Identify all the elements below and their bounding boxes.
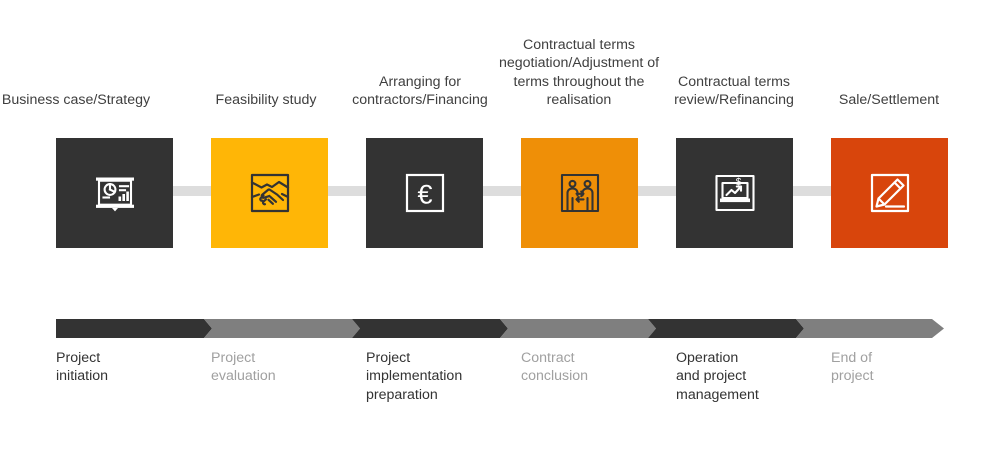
timeline-label-3: Project implementation preparation xyxy=(366,349,516,404)
timeline-segment-5[interactable] xyxy=(648,319,804,338)
timeline-segment-4[interactable] xyxy=(500,319,656,338)
negotiation-people-icon xyxy=(554,167,606,219)
svg-text:$: $ xyxy=(735,177,741,188)
stage-tile-1[interactable] xyxy=(56,138,173,248)
stage-tile-4[interactable] xyxy=(521,138,638,248)
euro-currency-icon: € xyxy=(399,167,451,219)
laptop-growth-icon: $ xyxy=(709,167,761,219)
stage-tile-6[interactable] xyxy=(831,138,948,248)
timeline-arrow-bar xyxy=(56,319,944,338)
timeline-segment-6[interactable] xyxy=(796,319,944,338)
stage-tile-5[interactable]: $ xyxy=(676,138,793,248)
timeline-label-4: Contract conclusion xyxy=(521,349,671,386)
timeline-label-5: Operation and project management xyxy=(676,349,826,404)
timeline-label-2: Project evaluation xyxy=(211,349,361,386)
timeline-label-6: End of project xyxy=(831,349,981,386)
timeline-segment-1[interactable] xyxy=(56,319,212,338)
timeline-label-1: Project initiation xyxy=(56,349,206,386)
timeline-segment-2[interactable] xyxy=(204,319,360,338)
presentation-chart-icon xyxy=(89,167,141,219)
timeline-labels-row: Project initiation Project evaluation Pr… xyxy=(0,349,1000,429)
pencil-signing-icon xyxy=(864,167,916,219)
stage-tile-3[interactable]: € xyxy=(366,138,483,248)
process-timeline-diagram: Business case/Strategy Feasibility study… xyxy=(0,0,1000,451)
svg-text:€: € xyxy=(417,180,432,210)
timeline-segment-3[interactable] xyxy=(352,319,508,338)
stage-tile-2[interactable] xyxy=(211,138,328,248)
handshake-icon xyxy=(244,167,296,219)
